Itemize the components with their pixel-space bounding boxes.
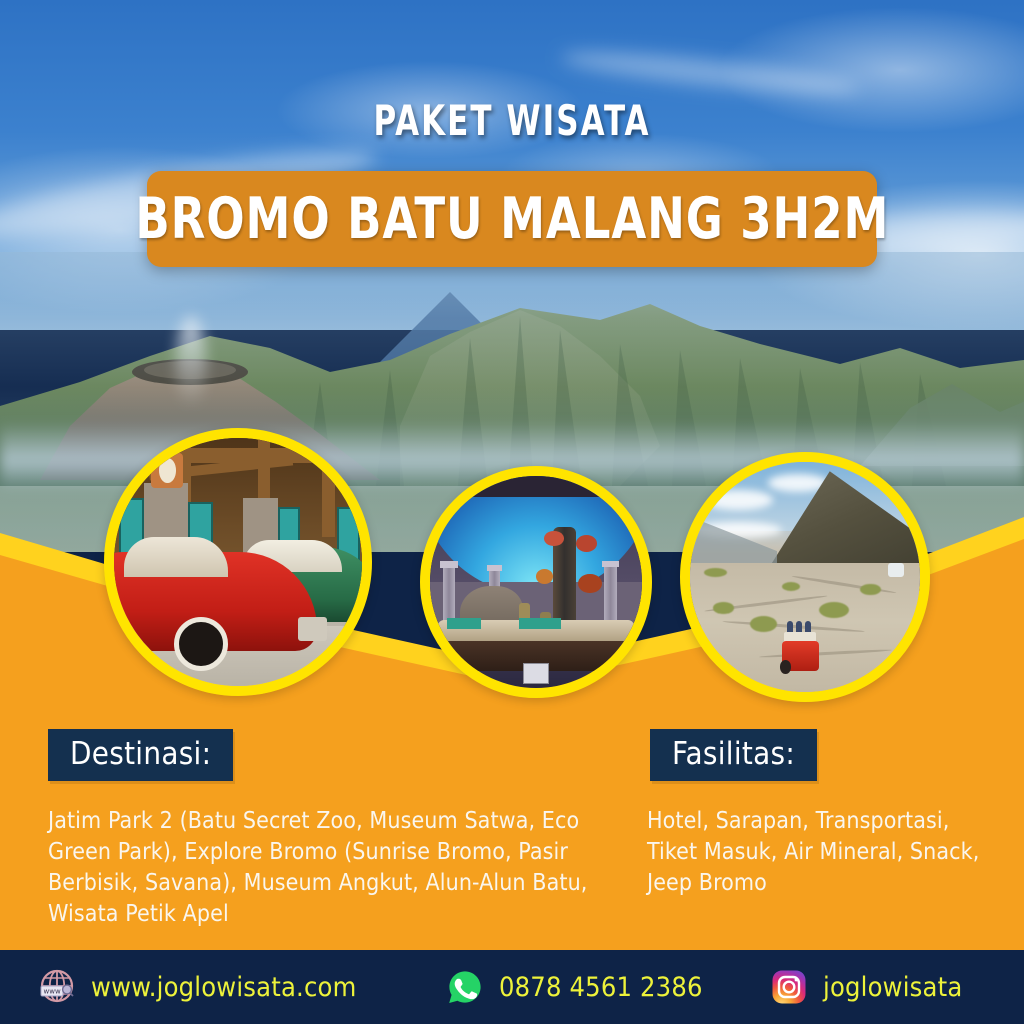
- globe-www-icon: www: [38, 968, 76, 1006]
- photo-museum-angkut-classic-cars: [104, 428, 372, 696]
- footer-instagram-label: joglowisata: [823, 972, 962, 1003]
- footer-instagram[interactable]: joglowisata: [770, 968, 962, 1006]
- contact-footer-bar: www www.joglowisata.com 0878 4561 2386: [0, 950, 1024, 1024]
- footer-whatsapp-label: 0878 4561 2386: [499, 972, 703, 1003]
- poster-canvas: PAKET WISATA BROMO BATU MALANG 3H2M: [0, 0, 1024, 1024]
- fasilitas-text: Hotel, Sarapan, Transportasi, Tiket Masu…: [647, 806, 997, 899]
- whatsapp-icon: [446, 968, 484, 1006]
- instagram-icon: [770, 968, 808, 1006]
- svg-text:www: www: [44, 988, 61, 996]
- photo-bromo-jeep-savanna: [680, 452, 930, 702]
- footer-website[interactable]: www www.joglowisata.com: [38, 968, 356, 1006]
- footer-website-label: www.joglowisata.com: [91, 972, 356, 1003]
- footer-whatsapp[interactable]: 0878 4561 2386: [446, 968, 703, 1006]
- photo-museum-satwa-diorama: [420, 466, 652, 698]
- poster-title-banner: BROMO BATU MALANG 3H2M: [147, 171, 877, 267]
- destinasi-label: Destinasi:: [48, 729, 233, 781]
- fasilitas-label: Fasilitas:: [650, 729, 817, 781]
- poster-title: BROMO BATU MALANG 3H2M: [135, 186, 889, 252]
- destinasi-text: Jatim Park 2 (Batu Secret Zoo, Museum Sa…: [48, 806, 588, 930]
- poster-kicker: PAKET WISATA: [92, 96, 932, 145]
